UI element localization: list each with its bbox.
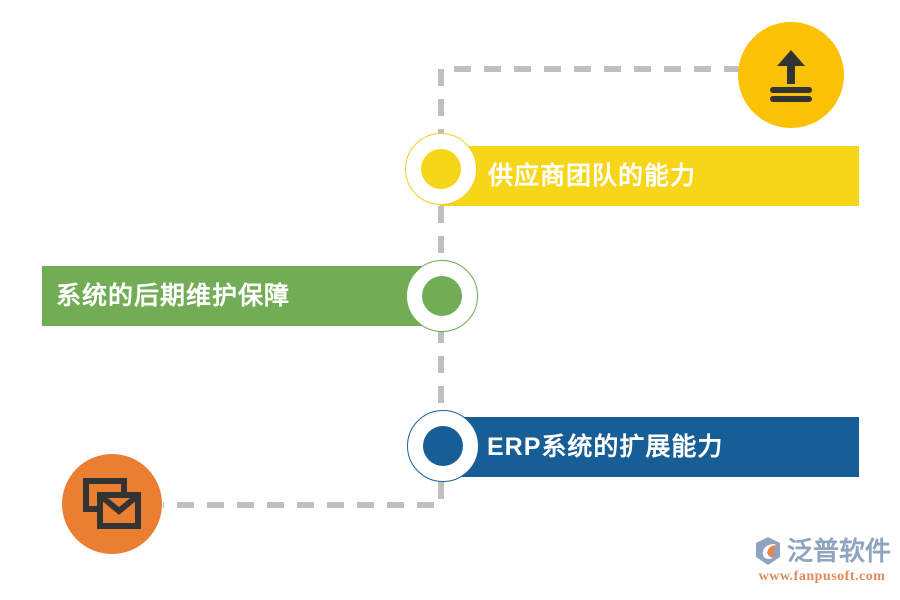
bar-supplier-label: 供应商团队的能力 bbox=[488, 164, 696, 189]
infographic-canvas: 供应商团队的能力 系统的后期维护保障 ERP系统的扩展能力 bbox=[0, 0, 900, 600]
mail-icon-circle[interactable] bbox=[62, 454, 162, 554]
watermark: 泛普软件 www.fanpusoft.com bbox=[752, 536, 892, 585]
upload-icon-circle[interactable] bbox=[738, 22, 844, 128]
node-maintenance[interactable] bbox=[406, 260, 478, 332]
node-supplier-dot bbox=[421, 149, 461, 189]
fanpu-shield-logo bbox=[753, 536, 783, 566]
node-maintenance-dot bbox=[422, 276, 462, 316]
node-erp-dot bbox=[423, 426, 463, 466]
bar-supplier[interactable]: 供应商团队的能力 bbox=[440, 146, 859, 206]
node-erp[interactable] bbox=[407, 410, 479, 482]
connector-bottom-path bbox=[163, 452, 441, 505]
watermark-url: www.fanpusoft.com bbox=[759, 569, 886, 585]
bar-erp[interactable]: ERP系统的扩展能力 bbox=[441, 417, 859, 477]
bar-maintenance-label: 系统的后期维护保障 bbox=[56, 284, 290, 309]
node-supplier[interactable] bbox=[405, 133, 477, 205]
watermark-brand: 泛普软件 bbox=[787, 538, 891, 564]
bar-maintenance[interactable]: 系统的后期维护保障 bbox=[42, 266, 432, 326]
mail-stack-icon bbox=[83, 478, 141, 530]
upload-arrow-icon bbox=[760, 44, 822, 106]
bar-erp-label: ERP系统的扩展能力 bbox=[487, 435, 723, 460]
watermark-row: 泛普软件 bbox=[753, 536, 891, 566]
